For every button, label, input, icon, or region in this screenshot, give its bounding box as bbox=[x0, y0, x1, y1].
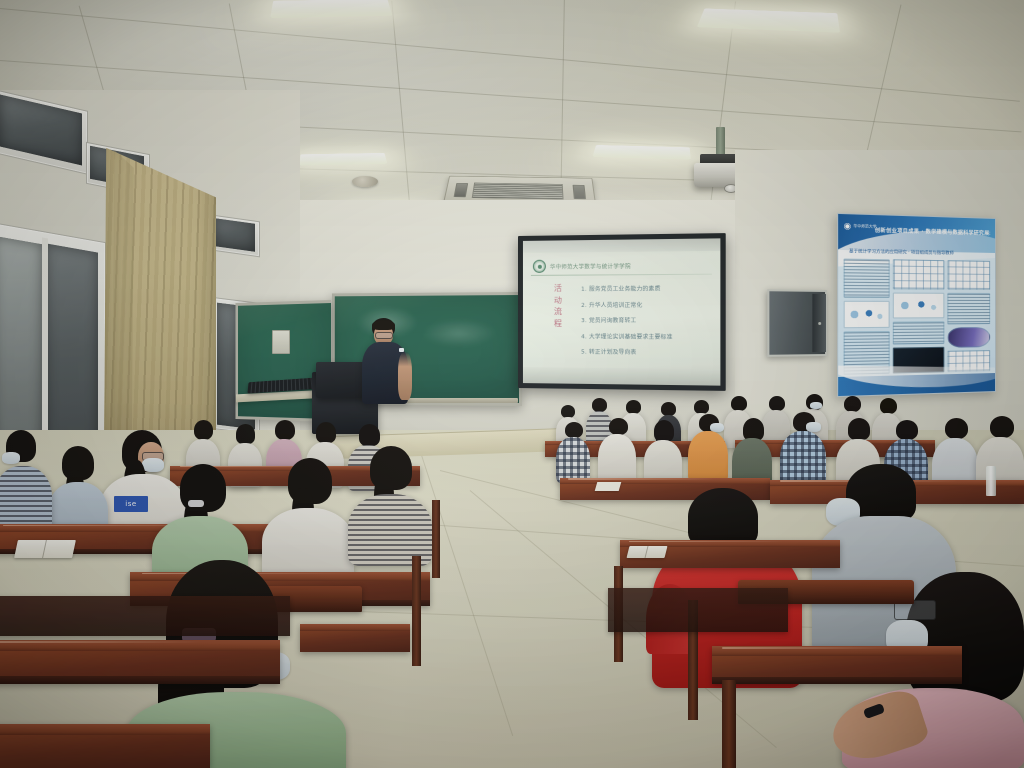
slide-org-line: 华中师范大学数学与统计学学院 bbox=[550, 261, 631, 270]
poster-text-block bbox=[844, 259, 890, 298]
projection-screen-surface: 华中师范大学数学与统计学学院 活 动 流 程 1. 服务党员工业务能力的素质 2… bbox=[523, 238, 720, 385]
desk-surface bbox=[300, 624, 410, 631]
slide-vertical-char: 活 bbox=[554, 285, 562, 293]
student-orange-shirt bbox=[688, 414, 728, 480]
student-mid-r3 bbox=[644, 420, 682, 482]
paper-sheet bbox=[595, 482, 622, 491]
hair bbox=[194, 420, 213, 440]
poster-text-block bbox=[947, 293, 990, 325]
desk-highlight bbox=[0, 641, 202, 643]
bench-left-1 bbox=[0, 596, 290, 636]
window-glass bbox=[215, 218, 255, 252]
poster-logo-name: 华中师范大学 bbox=[853, 224, 876, 230]
student-striped-left bbox=[348, 446, 432, 558]
ac-vent-grille bbox=[471, 183, 564, 200]
hair bbox=[565, 422, 583, 438]
slide-agenda-item: 1. 服务党员工业务能力的素质 bbox=[581, 284, 712, 293]
research-poster: 华中师范大学 创新创业项目成果 · 数学建模与数据科学研究展示 基于统计学习方法… bbox=[837, 213, 996, 397]
slide-agenda-item: 4. 大学理论实训基础要求主要标准 bbox=[581, 332, 712, 341]
torso bbox=[0, 466, 52, 532]
electrical-cabinet bbox=[767, 289, 827, 357]
student-white-tee-left bbox=[262, 458, 354, 574]
poster-logo: 华中师范大学 bbox=[844, 223, 877, 231]
open-notebook bbox=[14, 540, 76, 558]
hair bbox=[990, 416, 1014, 438]
desk-aisle-left bbox=[300, 624, 410, 652]
hair bbox=[592, 398, 607, 412]
desk-left-row5 bbox=[0, 724, 210, 768]
ceiling-light-3 bbox=[299, 153, 387, 166]
ac-vent-slot-right bbox=[572, 185, 586, 200]
water-bottle bbox=[986, 466, 996, 496]
hair bbox=[661, 402, 676, 416]
desk-left-row4 bbox=[0, 640, 280, 684]
hair bbox=[609, 418, 628, 435]
university-logo-icon bbox=[533, 260, 546, 273]
poster-column-left bbox=[844, 259, 890, 375]
cabinet-open-door bbox=[812, 294, 826, 352]
projection-screen: 华中师范大学数学与统计学学院 活 动 流 程 1. 服务党员工业务能力的素质 2… bbox=[518, 233, 726, 391]
wall-switch-box bbox=[272, 330, 290, 354]
student-left-fg3 bbox=[0, 430, 52, 524]
slide-agenda-item: 2. 升华人员培训正常化 bbox=[581, 300, 712, 308]
slide-vertical-char: 动 bbox=[554, 296, 562, 304]
desk-surface bbox=[0, 724, 210, 735]
ceiling-light-1 bbox=[270, 0, 392, 18]
poster-logo-icon bbox=[844, 223, 852, 231]
slide-vertical-title: 活 动 流 程 bbox=[550, 285, 566, 328]
open-notebook-right bbox=[627, 546, 668, 558]
presenter-glasses-icon bbox=[375, 332, 393, 339]
hair bbox=[694, 400, 709, 414]
hair bbox=[275, 420, 295, 440]
slide-vertical-char: 程 bbox=[554, 320, 562, 328]
face-mask bbox=[810, 402, 822, 409]
poster-text-block bbox=[893, 322, 944, 345]
chalk-smudge bbox=[422, 319, 496, 347]
poster-figure-block bbox=[893, 293, 944, 319]
hair bbox=[731, 396, 747, 411]
curtain-fold-highlight bbox=[112, 150, 134, 450]
torso bbox=[688, 431, 728, 483]
presenter-shirt-logo bbox=[399, 348, 404, 352]
student-mid-r2 bbox=[598, 418, 636, 480]
hair bbox=[769, 396, 785, 411]
desk-edge bbox=[0, 676, 280, 684]
bench-right-1 bbox=[608, 588, 788, 632]
presenter-hair-front bbox=[372, 320, 395, 330]
classroom-photo: 华中师范大学数学与统计学学院 活 动 流 程 1. 服务党员工业务能力的素质 2… bbox=[0, 0, 1024, 768]
slide-vertical-char: 流 bbox=[554, 308, 562, 316]
desk-leg bbox=[722, 680, 736, 768]
presenter bbox=[358, 318, 414, 410]
slide-divider bbox=[531, 274, 712, 276]
poster-body bbox=[844, 259, 991, 375]
desk-leg bbox=[432, 500, 440, 578]
hair bbox=[844, 396, 861, 412]
slide-bottom-band bbox=[523, 367, 720, 386]
hair bbox=[896, 420, 918, 440]
slide-agenda-item: 3. 党员问询教育转工 bbox=[581, 316, 712, 324]
desk-leg bbox=[412, 556, 421, 666]
floor-tile-line bbox=[420, 450, 514, 736]
torso bbox=[598, 434, 636, 484]
hair bbox=[626, 400, 641, 414]
student-mid-r1 bbox=[556, 422, 590, 480]
hair bbox=[945, 418, 968, 439]
poster-figure-block bbox=[844, 301, 890, 328]
face-mask bbox=[2, 452, 20, 464]
presenter-arm bbox=[398, 352, 412, 400]
student-mid-r5 bbox=[732, 418, 772, 484]
slide-agenda-item: 5. 转正计划及导向表 bbox=[581, 347, 712, 356]
tshirt-graphic: ise bbox=[114, 496, 148, 512]
hair bbox=[880, 398, 897, 414]
poster-spectrum-block bbox=[947, 327, 990, 348]
desk-right-foreground bbox=[712, 646, 962, 684]
slide-top-band bbox=[523, 238, 720, 253]
torso bbox=[556, 437, 590, 483]
desk-highlight bbox=[629, 541, 783, 542]
desk-highlight bbox=[568, 478, 715, 479]
desk-highlight bbox=[722, 647, 897, 649]
poster-chart-block bbox=[893, 259, 944, 289]
poster-footer-band bbox=[838, 373, 995, 396]
poster-chart-block bbox=[947, 260, 990, 290]
hair bbox=[688, 488, 758, 548]
slide-header: 华中师范大学数学与统计学学院 bbox=[533, 259, 631, 273]
smoke-detector bbox=[352, 176, 378, 187]
hair-tie bbox=[188, 500, 204, 507]
desk-edge bbox=[712, 677, 962, 684]
poster-column-right bbox=[947, 260, 990, 372]
slide-agenda-list: 1. 服务党员工业务能力的素质 2. 升华人员培训正常化 3. 党员问询教育转工… bbox=[581, 284, 712, 357]
poster-column-middle bbox=[893, 259, 944, 373]
